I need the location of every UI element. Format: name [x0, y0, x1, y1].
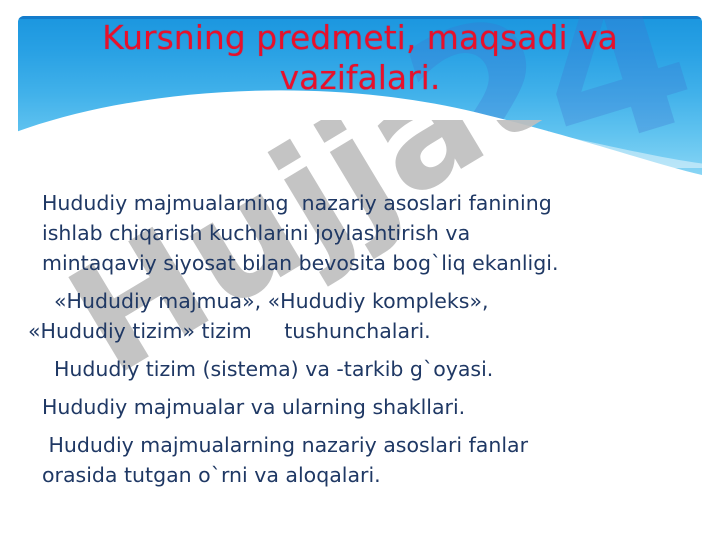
- body-line: Hududiy majmualarning nazariy asoslari f…: [0, 430, 720, 460]
- body-line: Hududiy majmualarning nazariy asoslari f…: [0, 188, 720, 218]
- body-line: orasida tutgan o`rni va aloqalari.: [0, 460, 720, 490]
- body-line: Hududiy majmualar va ularning shakllari.: [0, 392, 720, 422]
- header-wave: [18, 86, 702, 178]
- slide-title: Kursning predmeti, maqsadi va vazifalari…: [30, 18, 690, 99]
- presentation-slide: 24 Hujjat Kursning predmeti, maqsadi va …: [0, 0, 720, 540]
- body-line: Hududiy tizim (sistema) va -tarkib g`oya…: [0, 354, 720, 384]
- body-line: «Hududiy majmua», «Hududiy kompleks»,: [0, 286, 720, 316]
- body-line: «Hududiy tizim» tizim tushunchalari.: [0, 316, 720, 346]
- body-line: ishlab chiqarish kuchlarini joylashtiris…: [0, 218, 720, 248]
- slide-body: Hududiy majmualarning nazariy asoslari f…: [0, 188, 720, 490]
- body-line: mintaqaviy siyosat bilan bevosita bog`li…: [0, 248, 720, 278]
